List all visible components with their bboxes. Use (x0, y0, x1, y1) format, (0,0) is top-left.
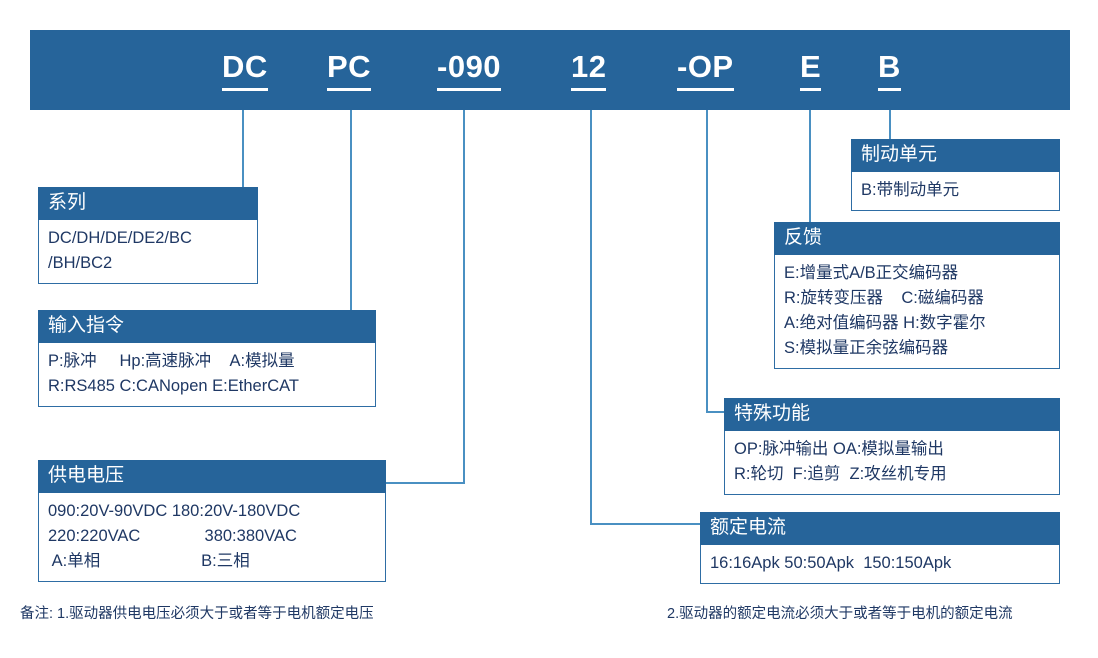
input-command-line-1: P:脉冲 Hp:高速脉冲 A:模拟量 (48, 352, 295, 370)
callout-feedback-body: E:增量式A/B正交编码器R:旋转变压器 C:磁编码器A:绝对值编码器 H:数字… (774, 255, 1060, 369)
code-segment-special-function[interactable]: -OP (677, 48, 734, 91)
callout-rated-current-title: 额定电流 (700, 512, 1060, 545)
supply-voltage-line-1: 090:20V-90VDC 180:20V-180VDC (48, 502, 300, 520)
callout-feedback-title: 反馈 (774, 222, 1060, 255)
callout-supply-voltage-body: 090:20V-90VDC 180:20V-180VDC220:220VAC 3… (38, 493, 386, 582)
code-segment-input-command[interactable]: PC (327, 48, 371, 91)
input-command-line-2: R:RS485 C:CANopen E:EtherCAT (48, 377, 299, 395)
series-line-2: /BH/BC2 (48, 254, 112, 272)
callout-brake-unit: 制动单元 B:带制动单元 (851, 139, 1060, 211)
special-function-line-2: R:轮切 F:追剪 Z:攻丝机专用 (734, 465, 947, 483)
callout-series-body: DC/DH/DE/DE2/BC/BH/BC2 (38, 220, 258, 284)
callout-series-title: 系列 (38, 187, 258, 220)
series-line-1: DC/DH/DE/DE2/BC (48, 229, 192, 247)
callout-input-command-title: 输入指令 (38, 310, 376, 343)
code-segment-feedback[interactable]: E (800, 48, 821, 91)
model-code-diagram: DC PC -090 12 -OP E B 系列 DC/DH/DE/DE2/BC… (0, 0, 1098, 658)
callout-rated-current: 额定电流 16:16Apk 50:50Apk 150:150Apk (700, 512, 1060, 584)
supply-voltage-line-2: 220:220VAC 380:380VAC (48, 527, 297, 545)
connector-supply-voltage (140, 88, 464, 483)
callout-special-function-title: 特殊功能 (724, 398, 1060, 431)
callout-supply-voltage-title: 供电电压 (38, 460, 386, 493)
code-segment-series[interactable]: DC (222, 48, 268, 91)
connector-rated-current (591, 88, 700, 524)
callout-rated-current-body: 16:16Apk 50:50Apk 150:150Apk (700, 545, 1060, 584)
code-segment-supply-voltage[interactable]: -090 (437, 48, 501, 91)
callout-brake-unit-body: B:带制动单元 (851, 172, 1060, 211)
supply-voltage-line-3: A:单相 B:三相 (48, 552, 250, 570)
callout-series: 系列 DC/DH/DE/DE2/BC/BH/BC2 (38, 187, 258, 284)
special-function-line-1: OP:脉冲输出 OA:模拟量输出 (734, 440, 944, 458)
feedback-line-2: R:旋转变压器 C:磁编码器 (784, 289, 984, 307)
callout-input-command-body: P:脉冲 Hp:高速脉冲 A:模拟量R:RS485 C:CANopen E:Et… (38, 343, 376, 407)
feedback-line-3: A:绝对值编码器 H:数字霍尔 (784, 314, 986, 332)
callout-supply-voltage: 供电电压 090:20V-90VDC 180:20V-180VDC220:220… (38, 460, 386, 582)
callout-feedback: 反馈 E:增量式A/B正交编码器R:旋转变压器 C:磁编码器A:绝对值编码器 H… (774, 222, 1060, 369)
callout-input-command: 输入指令 P:脉冲 Hp:高速脉冲 A:模拟量R:RS485 C:CANopen… (38, 310, 376, 407)
connector-special-function (707, 88, 724, 412)
footnote-1: 备注: 1.驱动器供电电压必须大于或者等于电机额定电压 (20, 604, 374, 624)
callout-special-function: 特殊功能 OP:脉冲输出 OA:模拟量输出R:轮切 F:追剪 Z:攻丝机专用 (724, 398, 1060, 495)
feedback-line-4: S:模拟量正余弦编码器 (784, 339, 948, 357)
footnote-2: 2.驱动器的额定电流必须大于或者等于电机的额定电流 (667, 604, 1013, 624)
rated-current-line-1: 16:16Apk 50:50Apk 150:150Apk (710, 554, 951, 572)
code-segment-rated-current[interactable]: 12 (571, 48, 606, 91)
model-code-bar: DC PC -090 12 -OP E B (30, 30, 1070, 110)
feedback-line-1: E:增量式A/B正交编码器 (784, 264, 958, 282)
code-segment-brake-unit[interactable]: B (878, 48, 901, 91)
callout-special-function-body: OP:脉冲输出 OA:模拟量输出R:轮切 F:追剪 Z:攻丝机专用 (724, 431, 1060, 495)
callout-brake-unit-title: 制动单元 (851, 139, 1060, 172)
brake-unit-line-1: B:带制动单元 (861, 181, 959, 199)
